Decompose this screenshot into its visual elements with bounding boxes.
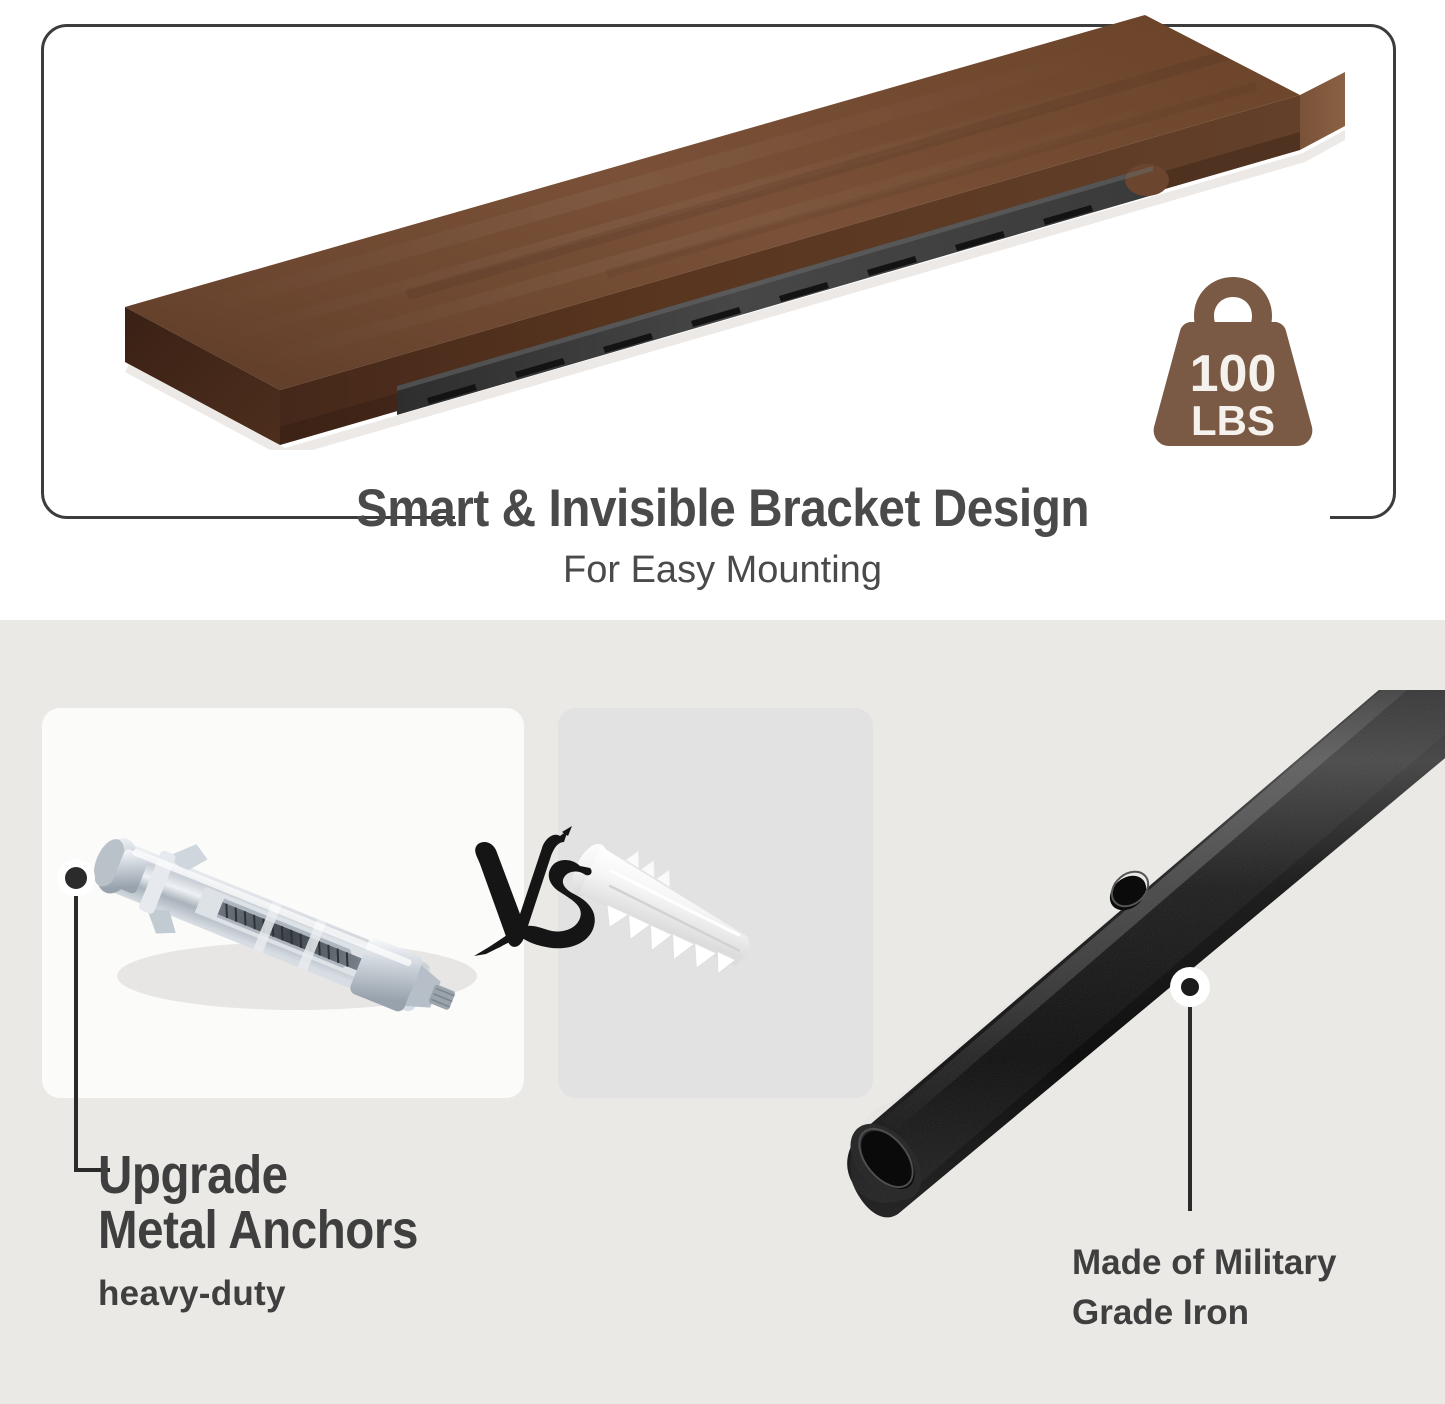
metal-anchor-label: Upgrade Metal Anchors heavy-duty bbox=[98, 1148, 618, 1314]
iron-rod-label-line2: Grade Iron bbox=[1072, 1288, 1402, 1338]
iron-rod-label: Made of Military Grade Iron bbox=[1072, 1238, 1402, 1337]
metal-anchor-label-line2: Metal Anchors bbox=[98, 1203, 556, 1258]
page-headline: Smart & Invisible Bracket Design bbox=[72, 478, 1373, 539]
metal-anchor-label-sub: heavy-duty bbox=[98, 1274, 618, 1314]
callout-ring-marker bbox=[1148, 955, 1238, 1225]
metal-anchor-label-line1: Upgrade bbox=[98, 1148, 556, 1203]
iron-rod-label-line1: Made of Military bbox=[1072, 1238, 1402, 1288]
top-section: 100 LBS Smart & Invisible Bracket Design… bbox=[0, 0, 1445, 620]
weight-badge-unit: LBS bbox=[1191, 397, 1275, 444]
callout-dot-marker bbox=[48, 848, 158, 1188]
weight-badge-value: 100 bbox=[1190, 345, 1277, 403]
versus-brush-icon bbox=[468, 826, 618, 966]
black-iron-tube bbox=[830, 690, 1445, 1250]
page-subheadline: For Easy Mounting bbox=[0, 549, 1445, 592]
weight-badge-icon: 100 LBS bbox=[1133, 275, 1333, 450]
product-feature-infographic: 100 LBS Smart & Invisible Bracket Design… bbox=[0, 0, 1445, 1404]
